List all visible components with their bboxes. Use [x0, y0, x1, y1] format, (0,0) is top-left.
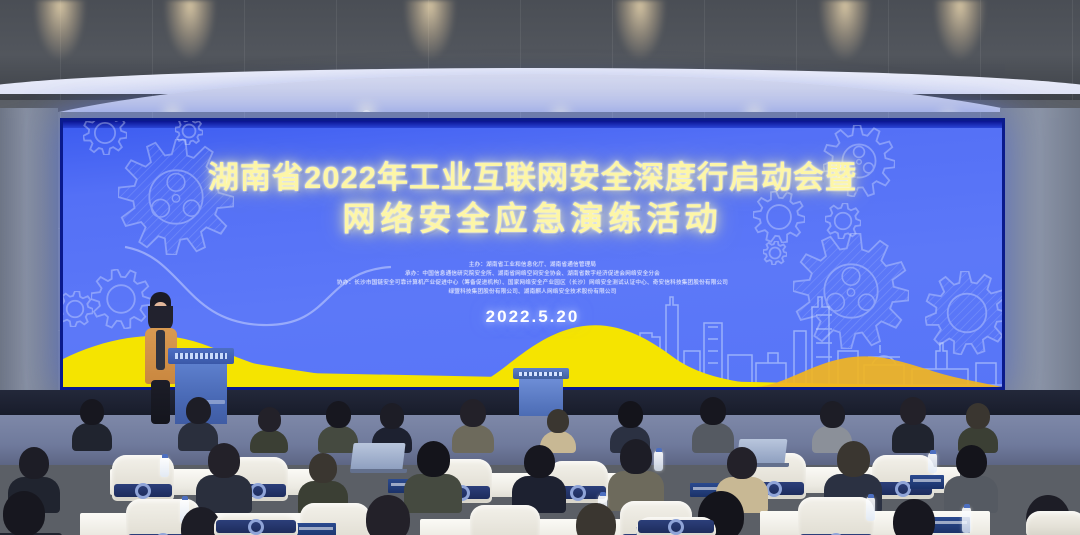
podium-control-panel	[175, 353, 227, 359]
audience-head	[186, 397, 211, 424]
audience-head	[837, 441, 870, 477]
screen-title-line2: 网络安全应急演练活动	[63, 200, 1002, 238]
audience-member	[72, 399, 112, 451]
audience-member	[250, 407, 288, 453]
bottle-cap	[182, 496, 188, 500]
audience-member	[318, 401, 358, 453]
audience-head	[576, 503, 616, 535]
audience-head	[417, 441, 450, 477]
audience-head	[524, 445, 555, 478]
audience-member	[0, 491, 62, 535]
audience-chair	[798, 497, 874, 535]
chair-ring	[766, 481, 782, 497]
bottle-cap	[868, 494, 874, 498]
audience-torso	[944, 476, 998, 513]
audience-chair	[470, 505, 540, 535]
audience-head	[366, 495, 410, 535]
laptop-screen	[350, 443, 405, 469]
water-bottle	[160, 457, 169, 477]
audience-head	[956, 445, 987, 478]
delegate-nameplate	[910, 475, 944, 489]
audience-area	[0, 395, 1080, 535]
chair-ring	[250, 483, 266, 499]
conference-hall-scene: 湖南省2022年工业互联网安全深度行启动会暨 网络安全应急演练活动 主办：湖南省…	[0, 0, 1080, 535]
audience-head	[258, 407, 281, 432]
audience-head	[727, 447, 757, 479]
water-bottle	[866, 497, 875, 521]
chair-ring	[668, 519, 684, 535]
speaker-inner-top	[156, 330, 165, 370]
audience-member	[560, 503, 632, 535]
pillar-left	[0, 108, 58, 418]
audience-member	[876, 499, 952, 535]
chair-ring	[135, 483, 151, 499]
audience-member	[944, 445, 998, 513]
audience-member	[348, 495, 428, 535]
organizer-line: 协办：长沙市国链安全可靠计算机产业促进中心（筹备促进机构）、国家网络安全产业园区…	[63, 279, 1002, 288]
pillar-right	[1000, 108, 1080, 418]
audience-head	[326, 401, 351, 428]
organizer-line: 承办：中国信息通信研究院安全所、湖南省网络空间安全协会、湖南省数字经济促进会网络…	[63, 270, 1002, 279]
podium-second-panel	[519, 372, 563, 376]
audience-member	[692, 397, 734, 453]
organizer-line: 绿盟科技集团股份有限公司、湖南麒人网络安全技术股份有限公司	[63, 288, 1002, 297]
gear-icon	[175, 121, 203, 145]
organizer-block: 主办：湖南省工业和信息化厅、湖南省通信管理局 承办：中国信息通信研究院安全所、湖…	[63, 261, 1002, 297]
laptop-base	[350, 469, 407, 473]
audience-head	[3, 491, 45, 535]
audience-head	[900, 397, 926, 425]
podium-second-top	[513, 368, 569, 379]
chair-ring	[570, 485, 586, 501]
bottle-cap	[930, 450, 936, 454]
screen-title-line1: 湖南省2022年工业互联网安全深度行启动会暨	[63, 161, 1002, 196]
event-date: 2022.5.20	[63, 307, 1002, 327]
audience-head	[618, 401, 643, 428]
chair-ring	[895, 481, 911, 497]
audience-head	[380, 403, 404, 429]
audience-head	[309, 453, 337, 483]
organizer-line: 主办：湖南省工业和信息化厅、湖南省通信管理局	[63, 261, 1002, 270]
audience-head	[966, 403, 990, 429]
audience-member	[892, 397, 934, 453]
chair-ring	[248, 519, 264, 535]
gear-icon	[83, 121, 127, 155]
audience-head	[208, 443, 240, 478]
podium-top	[168, 348, 234, 364]
audience-head	[19, 447, 49, 479]
audience-head	[80, 399, 104, 425]
audience-head	[820, 401, 845, 428]
bottle-cap	[964, 504, 970, 508]
audience-head	[700, 397, 726, 425]
delegate-nameplate	[296, 523, 336, 535]
audience-head	[460, 399, 486, 427]
audience-torso	[892, 423, 934, 453]
audience-member	[196, 443, 252, 513]
audience-chair	[1026, 511, 1080, 535]
screen-title-block: 湖南省2022年工业互联网安全深度行启动会暨 网络安全应急演练活动	[63, 161, 1002, 238]
audience-torso	[72, 423, 112, 451]
audience-head	[547, 409, 569, 433]
water-bottle	[928, 453, 937, 473]
audience-member	[512, 445, 566, 513]
audience-torso	[250, 430, 288, 453]
audience-head	[893, 499, 935, 535]
bottle-cap	[600, 492, 606, 496]
audience-head	[620, 439, 652, 474]
water-bottle	[962, 507, 971, 533]
bottle-cap	[162, 454, 168, 458]
